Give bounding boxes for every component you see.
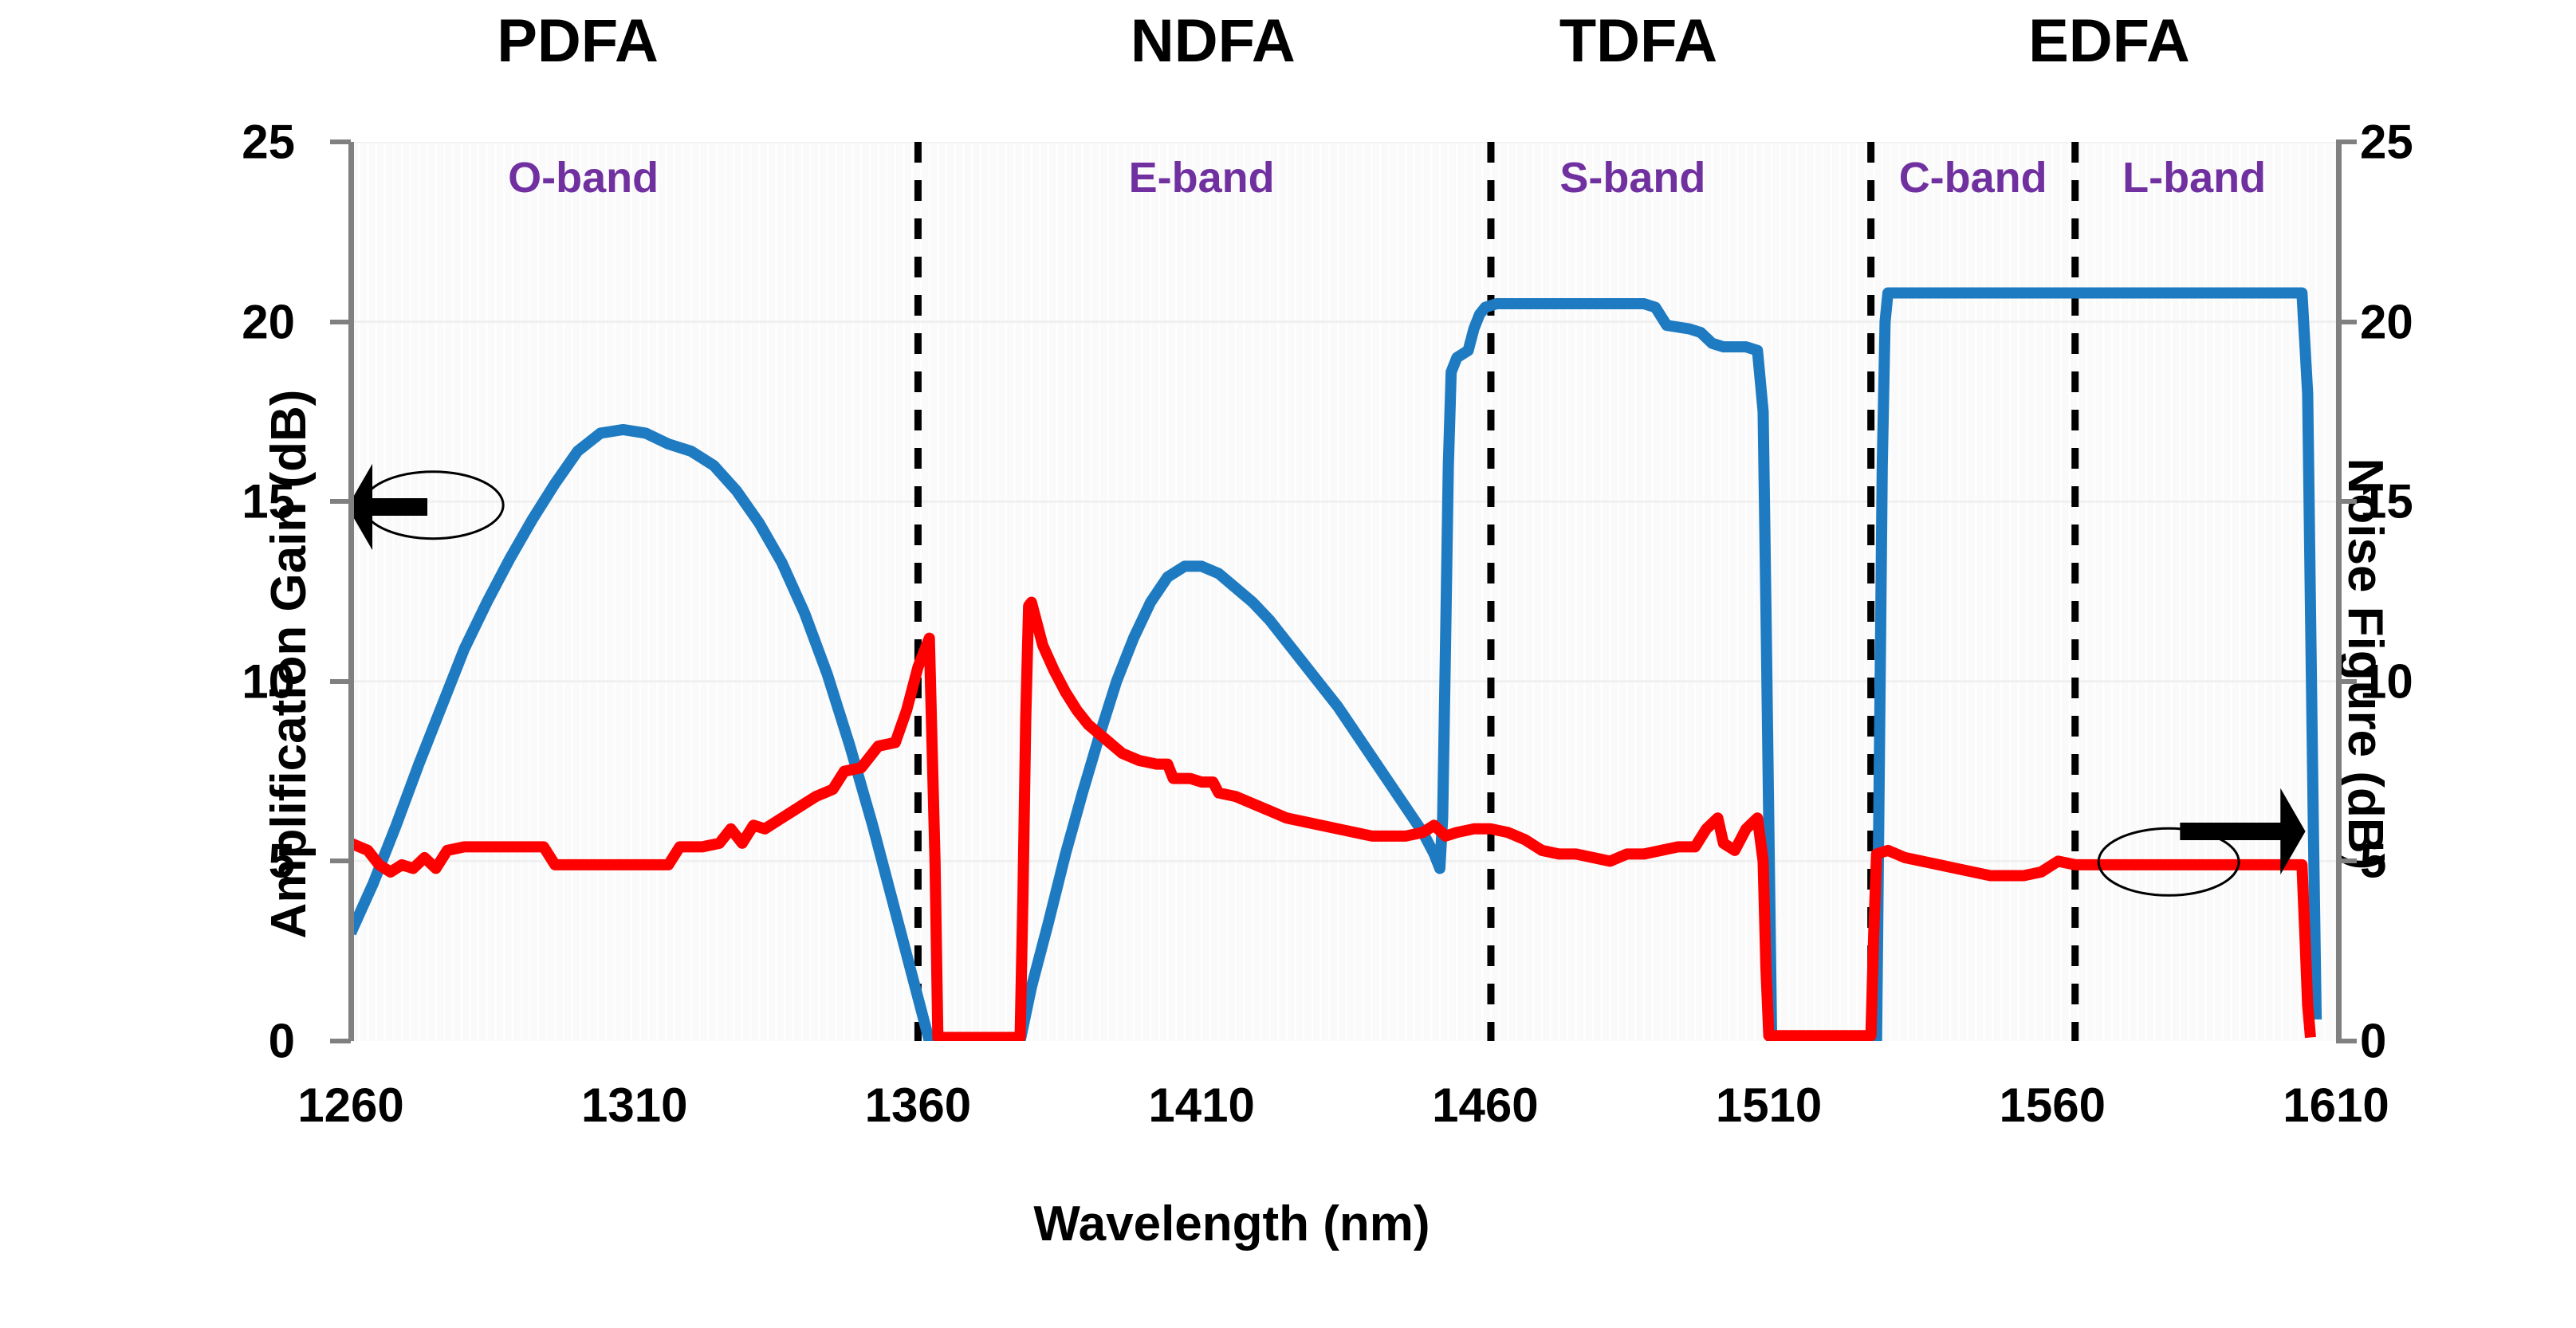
y-tick-right-20: 20 bbox=[2360, 294, 2413, 349]
y-axis-left-ticks: 0510152025 bbox=[191, 0, 295, 1328]
x-tick-1610: 1610 bbox=[2283, 1078, 2389, 1133]
y-tick-right-5: 5 bbox=[2360, 834, 2386, 889]
x-tick-1360: 1360 bbox=[865, 1078, 971, 1133]
y-tickmark-left-0 bbox=[330, 1039, 351, 1043]
y-tick-right-10: 10 bbox=[2360, 654, 2413, 709]
right-axis-spine bbox=[2336, 142, 2342, 1041]
y-tick-right-25: 25 bbox=[2360, 115, 2413, 170]
band-label-c-band: C-band bbox=[1899, 153, 2047, 202]
y-tickmark-right-20 bbox=[2336, 320, 2357, 324]
y-tickmark-left-15 bbox=[330, 499, 351, 504]
y-tickmark-left-25 bbox=[330, 139, 351, 144]
y-tickmark-left-5 bbox=[330, 858, 351, 863]
y-tick-right-0: 0 bbox=[2360, 1014, 2386, 1069]
band-label-s-band: S-band bbox=[1559, 153, 1705, 202]
x-tick-1310: 1310 bbox=[581, 1078, 687, 1133]
y-tickmark-left-20 bbox=[330, 320, 351, 324]
left-axis-spine bbox=[348, 142, 354, 1041]
amplifier-label-pdfa: PDFA bbox=[497, 6, 659, 76]
x-tick-1260: 1260 bbox=[297, 1078, 403, 1133]
y-tickmark-right-10 bbox=[2336, 679, 2357, 684]
x-tick-1460: 1460 bbox=[1432, 1078, 1538, 1133]
band-label-e-band: E-band bbox=[1129, 153, 1275, 202]
x-tick-1510: 1510 bbox=[1716, 1078, 1822, 1133]
series-line-noise-figure bbox=[351, 603, 2311, 1038]
series-line-amplification-gain bbox=[351, 293, 2316, 1042]
y-tickmark-right-25 bbox=[2336, 139, 2357, 144]
annotation-arrow-left-head bbox=[351, 464, 372, 550]
amplifier-label-ndfa: NDFA bbox=[1131, 6, 1296, 76]
x-tick-1410: 1410 bbox=[1148, 1078, 1254, 1133]
plot-area: O-bandE-bandS-bandC-bandL-band bbox=[351, 142, 2336, 1041]
background-grid bbox=[351, 142, 2333, 1041]
y-tickmark-left-10 bbox=[330, 679, 351, 684]
band-label-o-band: O-band bbox=[508, 153, 659, 202]
amplifier-label-tdfa: TDFA bbox=[1559, 6, 1717, 76]
y-tickmark-right-15 bbox=[2336, 499, 2357, 504]
y-tick-left-10: 10 bbox=[242, 654, 295, 709]
y-tick-right-15: 15 bbox=[2360, 474, 2413, 529]
y-tick-left-15: 15 bbox=[242, 474, 295, 529]
y-tick-left-5: 5 bbox=[269, 834, 295, 889]
y-tick-left-20: 20 bbox=[242, 294, 295, 349]
y-tick-left-0: 0 bbox=[269, 1014, 295, 1069]
y-tickmark-right-0 bbox=[2336, 1039, 2357, 1043]
band-label-l-band: L-band bbox=[2122, 153, 2266, 202]
amplifier-label-edfa: EDFA bbox=[2028, 6, 2190, 76]
chart-figure: PDFANDFATDFAEDFA Amplification Gain (dB)… bbox=[0, 0, 2576, 1328]
plot-svg bbox=[351, 142, 2336, 1041]
x-axis-title: Wavelength (nm) bbox=[674, 1196, 1790, 1252]
x-tick-1560: 1560 bbox=[2000, 1078, 2106, 1133]
y-tick-left-25: 25 bbox=[242, 115, 295, 170]
y-tickmark-right-5 bbox=[2336, 858, 2357, 863]
